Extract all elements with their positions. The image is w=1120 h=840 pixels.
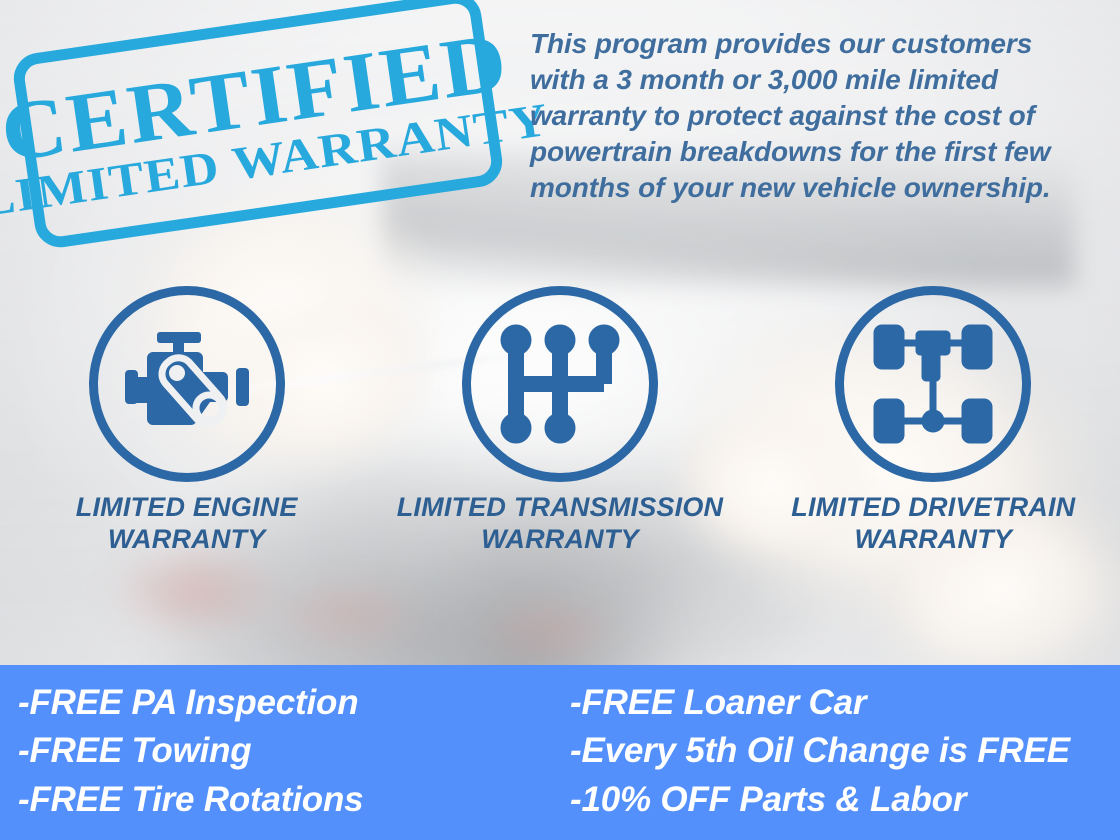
warranty-poster: CERTIFIED LIMITED WARRANTY This program … — [0, 0, 1120, 840]
feature-label-transmission: LIMITED TRANSMISSION WARRANTY — [397, 492, 724, 555]
perks-column-left: -FREE PA Inspection -FREE Towing -FREE T… — [0, 679, 560, 840]
gear-shifter-icon — [498, 322, 622, 446]
perk-item: -FREE Tire Rotations — [18, 776, 560, 824]
coverage-feature-list: LIMITED ENGINE WARRANTY — [0, 286, 1120, 555]
program-description-text: This program provides our customers with… — [530, 26, 1090, 207]
transmission-icon-circle — [462, 286, 658, 482]
feature-limited-engine: LIMITED ENGINE WARRANTY — [0, 286, 373, 555]
engine-icon-circle — [89, 286, 285, 482]
perks-column-right: -FREE Loaner Car -Every 5th Oil Change i… — [560, 679, 1120, 840]
feature-label-engine: LIMITED ENGINE WARRANTY — [76, 492, 298, 555]
perk-item: -Every 5th Oil Change is FREE — [570, 727, 1120, 775]
drivetrain-icon — [870, 321, 996, 447]
feature-limited-drivetrain: LIMITED DRIVETRAIN WARRANTY — [747, 286, 1120, 555]
perks-banner: -FREE PA Inspection -FREE Towing -FREE T… — [0, 665, 1120, 840]
feature-limited-transmission: LIMITED TRANSMISSION WARRANTY — [373, 286, 746, 555]
drivetrain-icon-circle — [835, 286, 1031, 482]
perk-item: -FREE Towing — [18, 727, 560, 775]
feature-label-drivetrain: LIMITED DRIVETRAIN WARRANTY — [791, 492, 1075, 555]
perk-item: -FREE Loaner Car — [570, 679, 1120, 727]
perk-item: -10% OFF Parts & Labor — [570, 776, 1120, 824]
engine-icon — [123, 326, 251, 442]
perk-item: -FREE PA Inspection — [18, 679, 560, 727]
